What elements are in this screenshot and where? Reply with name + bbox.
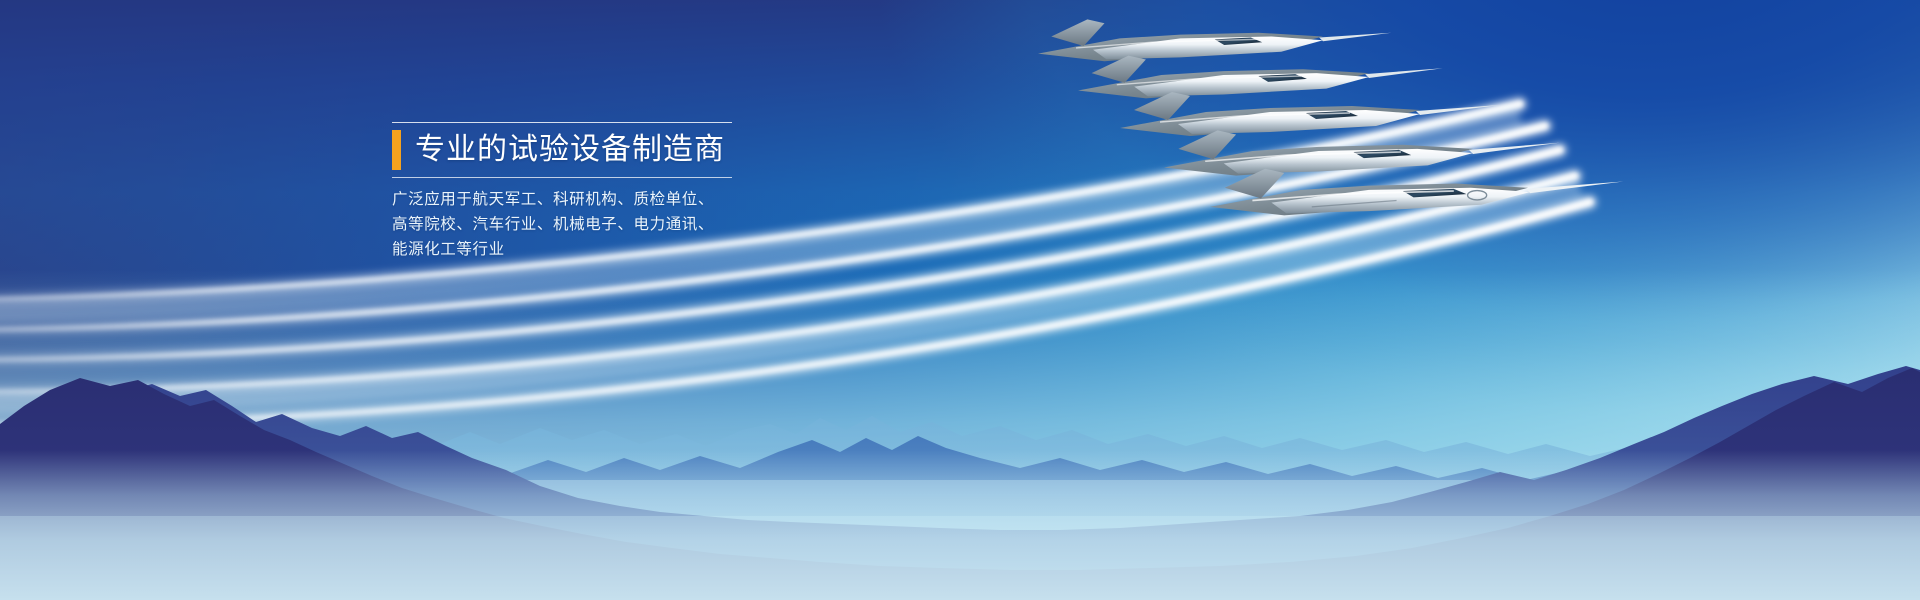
mountain-range-silhouettes xyxy=(0,340,1920,600)
subtext-line-1: 广泛应用于航天军工、科研机构、质检单位、 xyxy=(392,187,732,212)
page-title: 专业的试验设备制造商 xyxy=(415,133,725,167)
accent-bar-icon xyxy=(392,130,401,170)
subtext-line-3: 能源化工等行业 xyxy=(392,237,732,262)
banner-text-block: 专业的试验设备制造商 广泛应用于航天军工、科研机构、质检单位、 高等院校、汽车行… xyxy=(392,122,732,262)
headline-row: 专业的试验设备制造商 xyxy=(392,123,732,177)
fighter-jet-formation xyxy=(1020,0,1920,300)
banner-subtext: 广泛应用于航天军工、科研机构、质检单位、 高等院校、汽车行业、机械电子、电力通讯… xyxy=(392,187,732,262)
headline-rule-bottom xyxy=(392,177,732,178)
subtext-line-2: 高等院校、汽车行业、机械电子、电力通讯、 xyxy=(392,212,732,237)
hero-banner: 专业的试验设备制造商 广泛应用于航天军工、科研机构、质检单位、 高等院校、汽车行… xyxy=(0,0,1920,600)
